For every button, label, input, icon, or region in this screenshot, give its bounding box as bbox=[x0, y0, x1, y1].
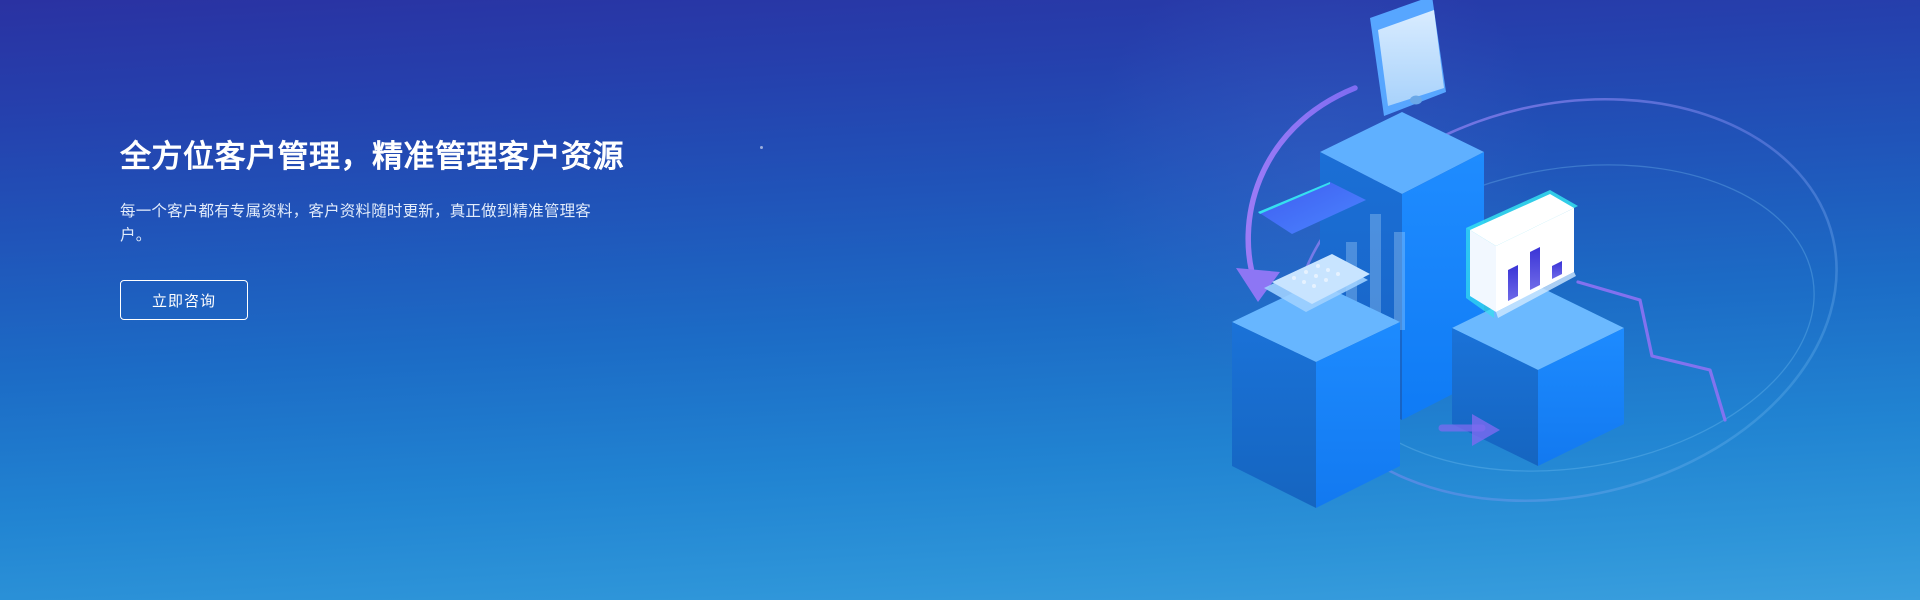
hero-illustration bbox=[1220, 0, 1920, 600]
laptop-pedestal bbox=[1232, 282, 1400, 508]
page-title: 全方位客户管理，精准管理客户资源 bbox=[120, 136, 740, 178]
tablet-device bbox=[1370, 0, 1446, 116]
sparkle-dot bbox=[760, 146, 763, 149]
consult-now-button[interactable]: 立即咨询 bbox=[120, 280, 248, 320]
hero-copy: 全方位客户管理，精准管理客户资源 每一个客户都有专属资料，客户资料随时更新，真正… bbox=[120, 136, 740, 320]
hero-subtitle: 每一个客户都有专属资料，客户资料随时更新，真正做到精准管理客户。 bbox=[120, 200, 602, 248]
hero-banner: 全方位客户管理，精准管理客户资源 每一个客户都有专属资料，客户资料随时更新，真正… bbox=[0, 0, 1920, 600]
